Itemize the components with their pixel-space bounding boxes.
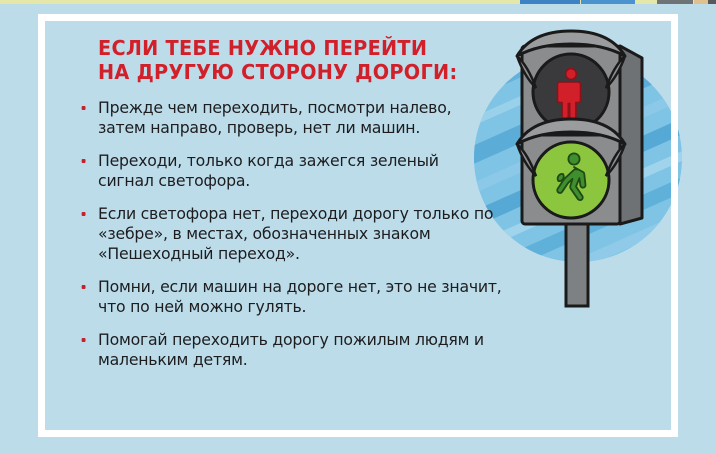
safety-rule-item: Помни, если машин на дороге нет, это не … [72,277,574,317]
text-content-column: ЕСЛИ ТЕБЕ НУЖНО ПЕРЕЙТИ НА ДРУГУЮ СТОРОН… [72,36,592,370]
sliver-segment [520,0,580,4]
traffic-light-side-panel [620,46,642,224]
sliver-segment [581,0,635,4]
top-cropped-sliver [0,0,716,4]
safety-rule-item: Если светофора нет, переходи дорогу толь… [72,204,574,264]
sliver-segment [694,0,708,4]
poster-root: ЕСЛИ ТЕБЕ НУЖНО ПЕРЕЙТИ НА ДРУГУЮ СТОРОН… [0,0,716,453]
safety-rules-list: Прежде чем переходить, посмотри налево, … [72,98,592,370]
safety-rule-item: Переходи, только когда зажегся зеленый с… [72,151,574,191]
safety-rule-item: Прежде чем переходить, посмотри налево, … [72,98,574,138]
safety-rule-item: Помогай переходить дорогу пожилым людям … [72,330,574,370]
page-title: ЕСЛИ ТЕБЕ НУЖНО ПЕРЕЙТИ НА ДРУГУЮ СТОРОН… [98,36,562,84]
sliver-segment [708,0,716,4]
sliver-segment [657,0,693,4]
